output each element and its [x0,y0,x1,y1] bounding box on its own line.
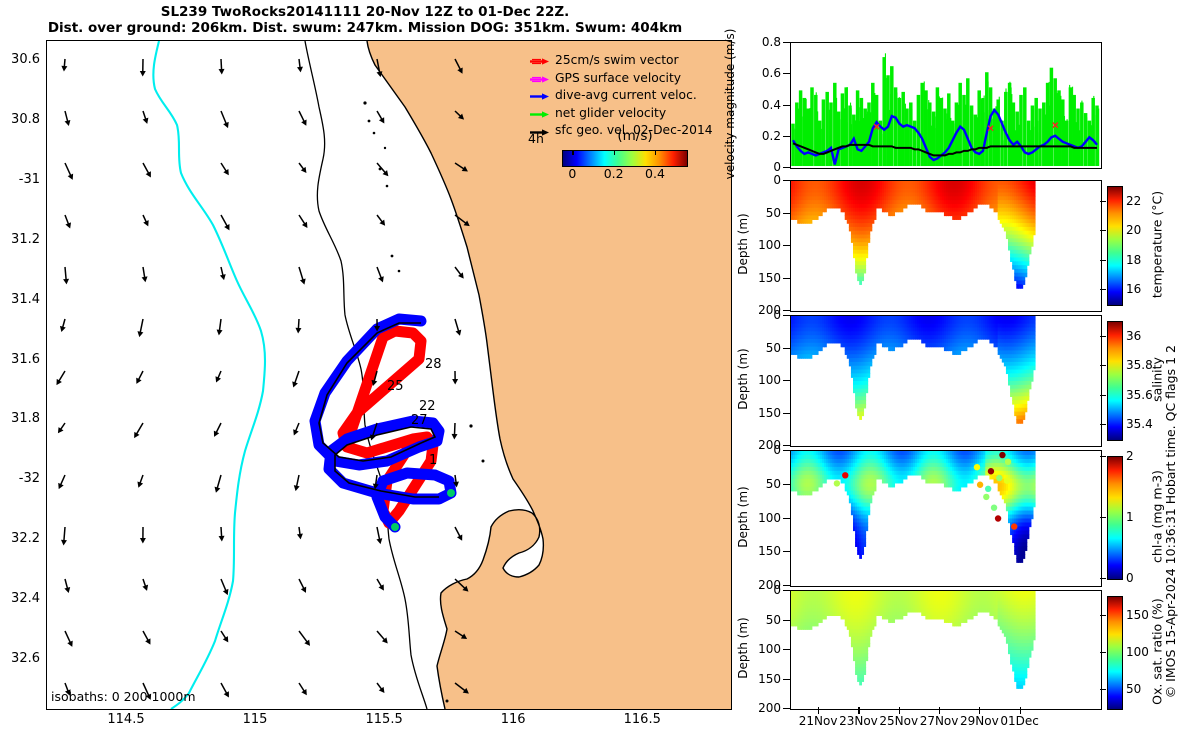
colorbar-tick-label-oxygen: 100 [1126,645,1149,659]
legend-colorbar [562,150,688,167]
velocity-ytick [783,73,790,74]
colorbar-tick-oxygen [1100,689,1106,690]
velocity-arrow [452,371,458,384]
depth-tick-temperature [783,278,790,279]
legend-colorbar-tick [614,150,615,155]
temperature-section [791,181,1101,311]
map-ytick-label: 32.4 [0,591,40,606]
velocity-arrow [61,59,67,71]
track-day-label-1: 1 [429,453,437,468]
velocity-ytick [783,136,790,137]
track-day-label-28: 28 [425,357,442,372]
velocity-ytick-label: 0.6 [735,66,781,80]
velocity-arrow [299,215,307,228]
colorbar-tick-salinity [1100,336,1106,337]
depth-axis-label-oxygen: Depth (m) [736,608,750,688]
velocity-arrow [299,111,307,126]
velocity-arrow [65,111,71,126]
velocity-arrow [377,163,388,176]
velocity-arrow [221,215,229,230]
velocity-arrow [221,111,229,128]
velocity-arrow [64,579,70,593]
depth-tick-label-chla: 0 [737,443,781,457]
depth-tick-oxygen [783,708,790,709]
map-ytick-label: 32.6 [0,651,40,666]
velocity-arrow [137,475,143,488]
depth-axis-label-salinity: Depth (m) [736,339,750,419]
colorbar-tick-label-chla: 1 [1126,510,1134,524]
map-ytick-label: 31.4 [0,292,40,307]
colorbar-tick-oxygen [1100,652,1106,653]
velocity-arrow [215,475,221,493]
velocity-arrow [142,579,148,591]
chla-section [791,451,1101,586]
legend-item-swim-vector: 25cm/s swim vector [528,52,714,70]
legend-marker-dive-avg-current [528,90,550,101]
velocity-arrow [455,631,467,639]
velocity-arrow [143,215,149,226]
section-panel-oxygen[interactable] [790,590,1102,710]
colorbar-tick-salinity [1100,424,1106,425]
map-ytick-label: 31.8 [0,411,40,426]
isobath-caption: isobaths: 0 200 1000m [51,689,196,704]
depth-tick-salinity [783,348,790,349]
velocity-arrow [220,267,226,280]
oxygen-section [791,591,1101,709]
velocity-arrow [455,111,464,120]
velocity-arrow [455,267,464,279]
depth-tick-salinity [783,380,790,381]
velocity-ytick-label: 0.4 [735,98,781,112]
depth-tick-label-salinity: 0 [737,308,781,322]
colorbar-tick-salinity [1100,365,1106,366]
depth-tick-chla [783,585,790,586]
velocity-arrow [455,163,468,172]
velocity-arrow [453,475,459,487]
legend-label: net glider velocity [555,105,666,123]
velocity-arrow [140,59,146,76]
depth-tick-oxygen [783,679,790,680]
legend-item-net-glider-velocity: net glider velocity [528,105,714,123]
velocity-arrow [455,319,461,336]
velocity-ytick-label: 0.8 [735,35,781,49]
legend-label: 25cm/s swim vector [555,52,679,70]
velocity-arrow [219,527,225,541]
colorbar-tick-label-chla: 2 [1126,449,1134,463]
colorbar-tick-label-salinity: 36 [1126,329,1141,343]
chla-sample-dot [977,482,983,488]
velocity-arrow [58,475,65,489]
velocity-arrow [143,111,149,124]
velocity-arrow [370,423,377,441]
colorbar-tick-label-temperature: 16 [1126,282,1141,296]
colorbar-tick-label-temperature: 18 [1126,253,1141,267]
colorbar-tick-label-oxygen: 150 [1126,608,1149,622]
credit-text: © IMOS 15-Apr-2024 10:36:31 Hobart time.… [1163,345,1178,698]
depth-tick-label-temperature: 0 [737,173,781,187]
colorbar-tick-label-temperature: 22 [1126,194,1141,208]
velocity-arrow [299,631,310,646]
depth-tick-salinity [783,413,790,414]
velocity-arrow [65,215,71,229]
velocity-arrow [58,423,65,433]
velocity-ytick-label: 0 [735,160,781,174]
chla-sample-dot [988,468,994,474]
track-day-label-27: 27 [411,413,428,428]
depth-tick-label-oxygen: 0 [737,583,781,597]
colorbar-tick-label-oxygen: 50 [1126,682,1141,696]
velocity-ytick-label: 0.2 [735,129,781,143]
velocity-arrow [297,59,303,72]
velocity-arrow [60,319,66,332]
section-panel-chla[interactable] [790,450,1102,587]
salinity-section [791,316,1101,446]
map-xtick-label: 114.5 [91,712,161,727]
chla-sample-dot [974,464,980,470]
chla-sample-dot [996,475,1002,481]
velocity-arrow [140,527,146,543]
velocity-arrow [455,579,468,592]
velocity-arrow [299,579,306,593]
map-ytick-label: 31.2 [0,232,40,247]
velocity-arrow [63,267,69,284]
legend-colorbar-tick-label: 0.4 [635,166,675,181]
velocity-axis-label: velocity magnitude (m/s) [723,24,737,184]
colorbar-tick-chla [1100,578,1106,579]
figure-title: SL239 TwoRocks20141111 20-Nov 12Z to 01-… [0,4,730,36]
time-tick [939,707,940,714]
velocity-arrow [221,683,229,697]
velocity-arrow [299,683,307,695]
map-ytick-label: -31 [0,172,40,187]
legend-colorbar-tick [572,150,573,155]
colorbar-tick-label-temperature: 20 [1126,223,1141,237]
legend-interval-label: 4h [528,131,544,146]
chla-sample-dot [985,486,991,492]
colorbar-tick-label-chla: 0 [1126,571,1134,585]
legend-item-dive-avg-current: dive-avg current veloc. [528,87,714,105]
chla-sample-dot [983,494,989,500]
velocity-arrow [377,579,384,591]
velocity-arrow [299,267,306,285]
velocity-arrow [293,423,299,435]
colorbar-chla [1107,456,1123,580]
chla-sample-dot [1005,459,1011,465]
velocity-arrow [221,163,229,175]
chla-sample-dot [1004,478,1010,484]
chla-sample-dot [995,515,1001,521]
time-tick [1020,707,1021,714]
map-ytick-label: -32 [0,471,40,486]
chla-sample-dot [991,505,997,511]
legend-colorbar-tick-label: 0 [552,166,592,181]
chla-sample-dot [1011,523,1017,529]
section-panel-salinity[interactable] [790,315,1102,447]
legend-colorbar-tick [655,150,656,155]
depth-tick-oxygen [783,590,790,591]
colorbar-tick-salinity [1100,395,1106,396]
depth-tick-oxygen [783,649,790,650]
colorbar-tick-temperature [1100,289,1106,290]
colorbar-tick-temperature [1100,260,1106,261]
colorbar-tick-temperature [1100,201,1106,202]
map-ytick-label: 30.6 [0,52,40,67]
colorbar-tick-chla [1100,517,1106,518]
velocity-arrow [455,527,462,541]
map-ytick-label: 30.8 [0,112,40,127]
map-xtick-label: 116 [478,712,548,727]
velocity-arrow [221,579,228,595]
depth-axis-label-temperature: Depth (m) [736,204,750,284]
time-tick [818,707,819,714]
map-ytick-label: 31.6 [0,352,40,367]
legend-marker-gps-surface-velocity [528,73,550,84]
colorbar-tick-chla [1100,456,1106,457]
chla-sample-dot [999,452,1005,458]
velocity-ytick [783,167,790,168]
depth-tick-chla [783,551,790,552]
velocity-arrow [371,371,377,386]
depth-tick-oxygen [783,620,790,621]
map-xtick-label: 115.5 [349,712,419,727]
chla-sample-dot [842,472,848,478]
depth-tick-label-oxygen: 200 [737,701,781,715]
depth-tick-salinity [783,445,790,446]
velocity-arrow [294,475,300,491]
legend-marker-swim-vector [528,55,550,66]
map-legend: 25cm/s swim vectorGPS surface velocitydi… [528,52,714,140]
legend-label: GPS surface velocity [555,70,681,88]
time-tick [858,707,859,714]
velocity-arrow [455,683,469,694]
velocity-arrow [374,319,380,331]
depth-tick-temperature [783,180,790,181]
velocity-ytick [783,42,790,43]
velocity-arrow [214,423,221,437]
velocity-arrow [136,371,143,384]
velocity-ytick [783,105,790,106]
velocity-arrow [452,423,458,439]
velocity-arrow [143,631,150,645]
velocity-arrow [65,631,73,647]
legend-colorbar-title: (m/s) [560,128,710,144]
depth-tick-chla [783,484,790,485]
legend-label: dive-avg current veloc. [555,87,697,105]
velocity-arrow [143,163,151,177]
legend-marker-net-glider-velocity [528,108,550,119]
velocity-arrow [56,371,65,385]
velocity-magnitude-panel[interactable] [790,42,1102,169]
velocity-arrow [65,163,73,180]
legend-item-gps-surface-velocity: GPS surface velocity [528,70,714,88]
velocity-arrow [134,423,143,438]
time-tick [899,707,900,714]
velocity-arrow [137,319,143,337]
time-tick [979,707,980,714]
colorbar-temperature [1107,186,1123,306]
depth-tick-salinity [783,315,790,316]
velocity-arrow [142,267,148,282]
velocity-arrow [377,267,384,282]
track-day-label-22: 22 [419,399,436,414]
depth-tick-temperature [783,213,790,214]
colorbar-tick-temperature [1100,230,1106,231]
colorbar-salinity [1107,321,1123,441]
chla-sample-dot [834,480,840,486]
depth-axis-label-chla: Depth (m) [736,477,750,557]
velocity-arrow [377,215,385,226]
velocity-plot [791,43,1101,168]
section-panel-temperature[interactable] [790,180,1102,312]
depth-tick-temperature [783,310,790,311]
depth-tick-chla [783,450,790,451]
colorbar-tick-oxygen [1100,615,1106,616]
velocity-arrow [377,111,384,124]
velocity-arrow [377,631,388,644]
velocity-arrow [61,527,67,545]
title-line-1: SL239 TwoRocks20141111 20-Nov 12Z to 01-… [0,4,730,20]
velocity-arrow [455,215,470,226]
velocity-arrow [292,371,299,388]
depth-tick-temperature [783,245,790,246]
velocity-arrow [221,631,228,642]
velocity-arrow [376,527,382,544]
velocity-arrow [297,527,303,539]
depth-tick-chla [783,518,790,519]
map-ytick-label: 32.2 [0,531,40,546]
track-day-label-25: 25 [387,379,404,394]
velocity-arrow [217,319,223,335]
title-line-2: Dist. over ground: 206km. Dist. swum: 24… [0,20,730,36]
map-xtick-label: 115 [220,712,290,727]
velocity-arrow [455,59,463,74]
colorbar-title-temperature: temperature (°C) [1150,180,1165,310]
velocity-arrow [295,319,301,333]
legend-colorbar-tick-label: 0.2 [594,166,634,181]
time-tick-label: 01Dec [985,714,1055,728]
velocity-arrow [373,475,379,489]
velocity-arrow [215,371,221,382]
velocity-arrow [377,59,383,77]
velocity-arrow [299,163,306,173]
velocity-arrow [377,683,384,693]
colorbar-oxygen [1107,596,1123,710]
map-xtick-label: 116.5 [607,712,677,727]
velocity-arrow [219,59,225,74]
